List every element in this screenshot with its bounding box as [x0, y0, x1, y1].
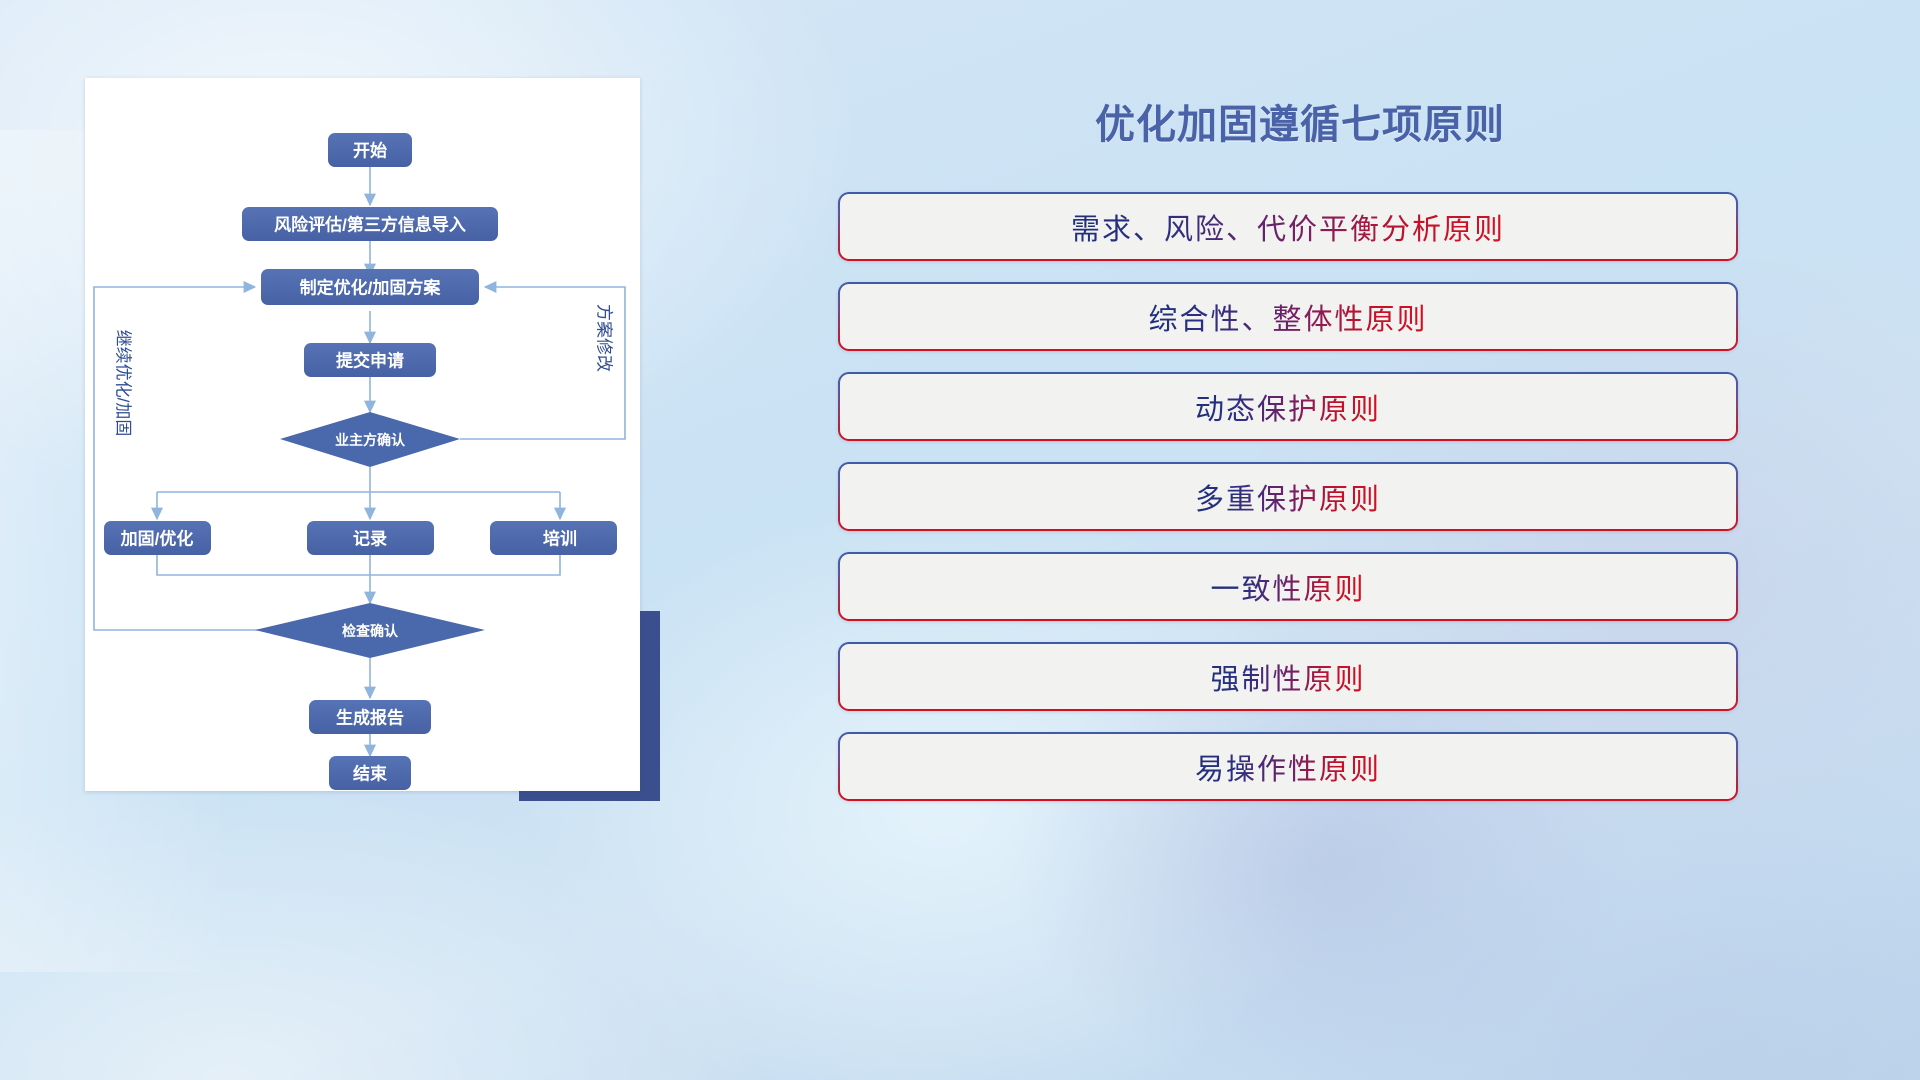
principle-card-inner: 强制性原则: [840, 644, 1736, 709]
principle-label: 综合性、整体性原则: [1148, 296, 1427, 338]
principles-list: 需求、风险、代价平衡分析原则 综合性、整体性原则 动态保护原则 多重保护原则 一…: [838, 192, 1738, 822]
flow-node-check-confirm-label: 检查确认: [342, 623, 399, 639]
principle-card[interactable]: 易操作性原则: [838, 732, 1738, 801]
flow-node-owner-confirm[interactable]: 业主方确认: [280, 412, 460, 467]
flow-node-make-plan[interactable]: 制定优化/加固方案: [261, 269, 479, 305]
principle-card[interactable]: 动态保护原则: [838, 372, 1738, 441]
flow-node-training-label: 培训: [543, 529, 577, 549]
flow-node-reinforce-optimize[interactable]: 加固/优化: [104, 521, 211, 555]
flow-node-make-plan-label: 制定优化/加固方案: [300, 278, 442, 298]
principle-label: 需求、风险、代价平衡分析原则: [1071, 206, 1505, 248]
flow-node-submit-application-label: 提交申请: [336, 351, 404, 371]
principle-label: 一致性原则: [1210, 566, 1365, 608]
flow-node-risk-assessment-label: 风险评估/第三方信息导入: [274, 215, 466, 235]
flow-node-owner-confirm-label: 业主方确认: [335, 432, 406, 448]
principle-label: 多重保护原则: [1195, 476, 1381, 518]
flow-node-generate-report[interactable]: 生成报告: [309, 700, 431, 734]
principle-card[interactable]: 强制性原则: [838, 642, 1738, 711]
principle-card[interactable]: 多重保护原则: [838, 462, 1738, 531]
flow-node-record-label: 记录: [353, 530, 387, 549]
flow-node-reinforce-optimize-label: 加固/优化: [120, 529, 194, 549]
principle-label: 动态保护原则: [1195, 386, 1381, 428]
principles-title: 优化加固遵循七项原则: [760, 92, 1840, 150]
flow-node-end[interactable]: 结束: [329, 756, 411, 790]
principle-label: 易操作性原则: [1195, 746, 1381, 788]
flowchart-diagram: 开始 风险评估/第三方信息导入 制定优化/加固方案 提交申请 业主方确认 加固/…: [85, 78, 640, 791]
flow-node-generate-report-label: 生成报告: [336, 708, 404, 728]
principle-label: 强制性原则: [1210, 656, 1365, 698]
flowchart-panel: 开始 风险评估/第三方信息导入 制定优化/加固方案 提交申请 业主方确认 加固/…: [85, 78, 640, 791]
flow-edge-label-left-loop: 继续优化/加固: [114, 330, 133, 437]
principles-panel: 优化加固遵循七项原则 需求、风险、代价平衡分析原则 综合性、整体性原则 动态保护…: [760, 70, 1840, 870]
principle-card[interactable]: 综合性、整体性原则: [838, 282, 1738, 351]
flow-node-training[interactable]: 培训: [490, 521, 617, 555]
flow-node-end-label: 结束: [353, 764, 387, 784]
principle-card-inner: 一致性原则: [840, 554, 1736, 619]
principle-card-inner: 需求、风险、代价平衡分析原则: [840, 194, 1736, 259]
flow-node-start[interactable]: 开始: [328, 133, 412, 167]
principle-card-inner: 动态保护原则: [840, 374, 1736, 439]
principle-card[interactable]: 需求、风险、代价平衡分析原则: [838, 192, 1738, 261]
principle-card-inner: 综合性、整体性原则: [840, 284, 1736, 349]
principle-card-inner: 多重保护原则: [840, 464, 1736, 529]
principle-card-inner: 易操作性原则: [840, 734, 1736, 799]
flow-node-submit-application[interactable]: 提交申请: [304, 343, 436, 377]
principle-card[interactable]: 一致性原则: [838, 552, 1738, 621]
flow-node-start-label: 开始: [353, 141, 387, 161]
flow-node-check-confirm[interactable]: 检查确认: [255, 603, 485, 658]
flow-edge-label-right-loop: 方案修改: [595, 304, 614, 372]
flow-node-record[interactable]: 记录: [307, 521, 434, 555]
flow-node-risk-assessment[interactable]: 风险评估/第三方信息导入: [242, 207, 498, 241]
